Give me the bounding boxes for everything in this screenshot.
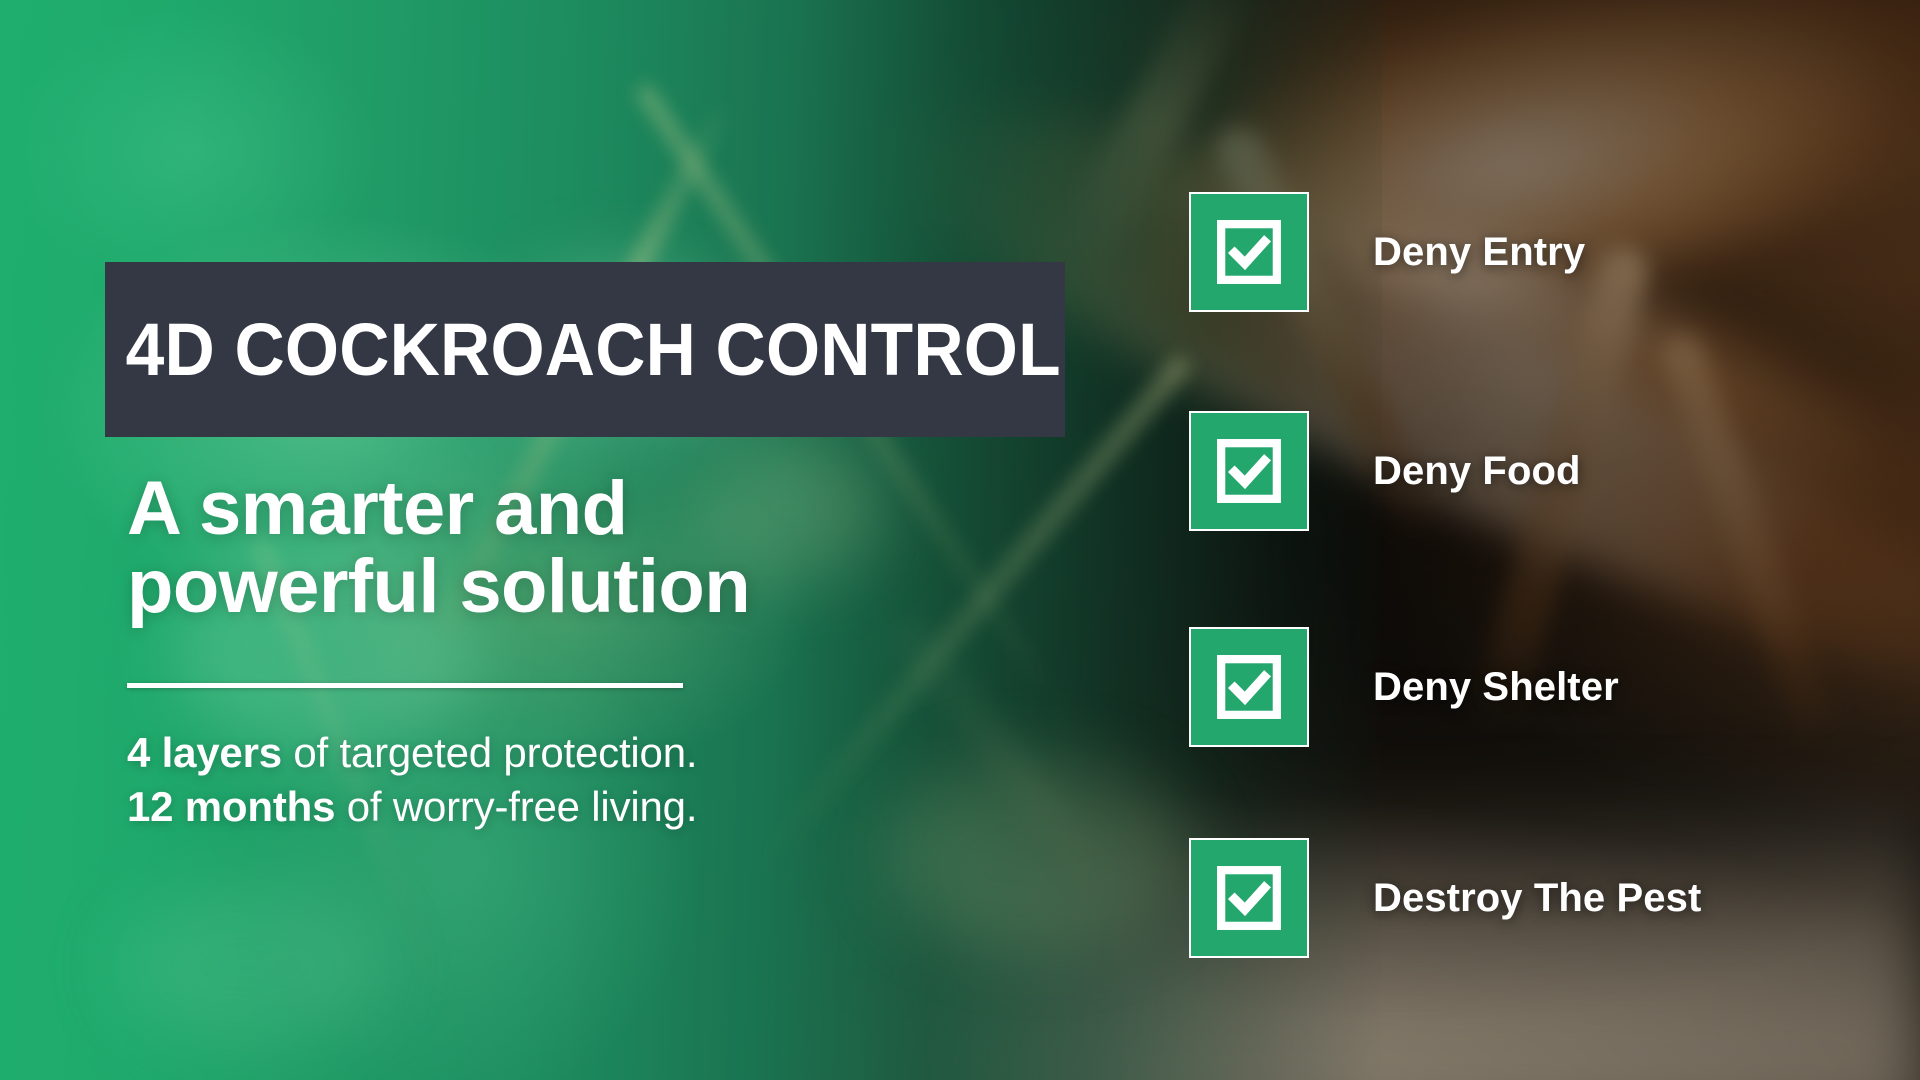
checkbox-checked-icon (1189, 411, 1309, 531)
headline-line-1: A smarter and (127, 470, 750, 548)
promo-banner-stage: 4D COCKROACH CONTROL A smarter and power… (0, 0, 1920, 1080)
checkbox-checked-icon (1189, 192, 1309, 312)
divider-rule (127, 683, 683, 688)
checklist-item-label: Destroy The Pest (1373, 876, 1701, 921)
body-copy-line-2-bold: 12 months (127, 783, 335, 830)
checklist-item-label: Deny Food (1373, 449, 1581, 494)
checkbox-checked-icon (1189, 838, 1309, 958)
left-content-block: 4D COCKROACH CONTROL A smarter and power… (105, 0, 1105, 1080)
body-copy-line-1: 4 layers of targeted protection. (127, 726, 697, 780)
body-copy: 4 layers of targeted protection. 12 mont… (127, 726, 697, 834)
checkbox-checked-icon (1189, 627, 1309, 747)
checklist-item-label: Deny Entry (1373, 230, 1585, 275)
body-copy-line-1-rest: of targeted protection. (282, 729, 697, 776)
checklist-item-label: Deny Shelter (1373, 665, 1619, 710)
checklist-item-destroy-the-pest: Destroy The Pest (1189, 838, 1701, 958)
headline-line-2: powerful solution (127, 548, 750, 626)
title-banner: 4D COCKROACH CONTROL (105, 262, 1065, 437)
headline: A smarter and powerful solution (127, 470, 750, 627)
checklist-item-deny-food: Deny Food (1189, 411, 1581, 531)
body-copy-line-1-bold: 4 layers (127, 729, 282, 776)
checklist-item-deny-shelter: Deny Shelter (1189, 627, 1619, 747)
body-copy-line-2: 12 months of worry-free living. (127, 780, 697, 834)
checklist-item-deny-entry: Deny Entry (1189, 192, 1585, 312)
page-title: 4D COCKROACH CONTROL (105, 307, 1061, 392)
body-copy-line-2-rest: of worry-free living. (335, 783, 697, 830)
